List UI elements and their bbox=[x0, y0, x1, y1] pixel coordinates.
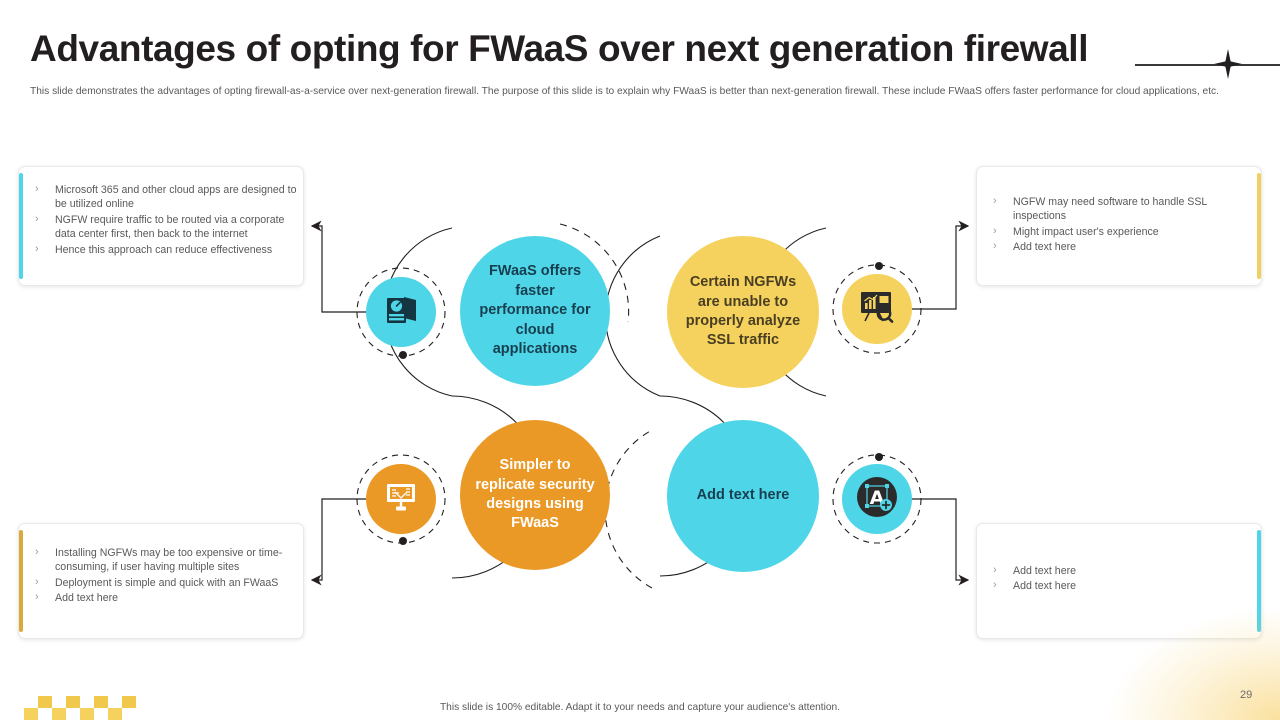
chevron-right-icon: › bbox=[35, 212, 39, 226]
list-item: ›Add text here bbox=[19, 591, 303, 605]
icon-circle-1[interactable] bbox=[366, 277, 436, 347]
chevron-right-icon: › bbox=[993, 239, 997, 253]
icon-circle-3[interactable] bbox=[366, 464, 436, 534]
add-text-box-icon: A bbox=[853, 473, 901, 526]
list-item-text: Add text here bbox=[1013, 580, 1076, 592]
chevron-right-icon: › bbox=[35, 590, 39, 604]
presentation-board-icon bbox=[382, 478, 420, 521]
callout-bottom-left[interactable]: ›Installing NGFWs may be too expensive o… bbox=[18, 523, 304, 639]
chevron-right-icon: › bbox=[993, 194, 997, 208]
list-item: ›NGFW may need software to handle SSL in… bbox=[977, 195, 1261, 224]
chevron-right-icon: › bbox=[993, 563, 997, 577]
callout-top-right[interactable]: ›NGFW may need software to handle SSL in… bbox=[976, 166, 1262, 286]
bubble-4-label: Add text here bbox=[685, 486, 802, 505]
chevron-right-icon: › bbox=[993, 224, 997, 238]
list-item-text: NGFW may need software to handle SSL ins… bbox=[1013, 196, 1207, 222]
icon-circle-4[interactable]: A bbox=[842, 464, 912, 534]
report-gauge-icon bbox=[382, 291, 420, 334]
callout-bottom-left-list: ›Installing NGFWs may be too expensive o… bbox=[19, 546, 303, 607]
icon-circle-2[interactable] bbox=[842, 274, 912, 344]
list-item-text: NGFW require traffic to be routed via a … bbox=[55, 214, 284, 240]
list-item-text: Might impact user's experience bbox=[1013, 226, 1159, 238]
list-item-text: Add text here bbox=[1013, 565, 1076, 577]
list-item: ›Deployment is simple and quick with an … bbox=[19, 576, 303, 590]
callout-top-left[interactable]: ›Microsoft 365 and other cloud apps are … bbox=[18, 166, 304, 286]
bubble-4[interactable]: Add text here bbox=[667, 420, 819, 572]
list-item: ›Might impact user's experience bbox=[977, 225, 1261, 239]
chevron-right-icon: › bbox=[35, 575, 39, 589]
list-item: ›Add text here bbox=[977, 240, 1261, 254]
chart-board-search-icon bbox=[857, 287, 897, 332]
callout-top-left-list: ›Microsoft 365 and other cloud apps are … bbox=[19, 183, 303, 258]
list-item: ›Add text here bbox=[977, 579, 1261, 593]
list-item: ›Hence this approach can reduce effectiv… bbox=[19, 243, 303, 257]
list-item-text: Add text here bbox=[55, 592, 118, 604]
bubble-2-label: Certain NGFWs are unable to properly ana… bbox=[667, 273, 819, 351]
chevron-right-icon: › bbox=[993, 578, 997, 592]
chevron-right-icon: › bbox=[35, 545, 39, 559]
page-subtitle: This slide demonstrates the advantages o… bbox=[30, 85, 1225, 99]
chevron-right-icon: › bbox=[35, 242, 39, 256]
callout-top-right-list: ›NGFW may need software to handle SSL in… bbox=[977, 195, 1261, 256]
list-item: ›Add text here bbox=[977, 564, 1261, 578]
slide-root: Advantages of opting for FWaaS over next… bbox=[0, 0, 1280, 720]
list-item: ›NGFW require traffic to be routed via a… bbox=[19, 213, 303, 242]
list-item-text: Installing NGFWs may be too expensive or… bbox=[55, 547, 282, 573]
callout-bottom-right-list: ›Add text here ›Add text here bbox=[977, 564, 1261, 595]
sparkle-icon bbox=[1214, 49, 1242, 79]
list-item: ›Installing NGFWs may be too expensive o… bbox=[19, 546, 303, 575]
bubble-3[interactable]: Simpler to replicate security designs us… bbox=[460, 420, 610, 570]
list-item-text: Add text here bbox=[1013, 241, 1076, 253]
bubble-1[interactable]: FWaaS offers faster performance for clou… bbox=[460, 236, 610, 386]
list-item: ›Microsoft 365 and other cloud apps are … bbox=[19, 183, 303, 212]
page-title: Advantages of opting for FWaaS over next… bbox=[30, 28, 1088, 70]
bubble-2[interactable]: Certain NGFWs are unable to properly ana… bbox=[667, 236, 819, 388]
page-number: 29 bbox=[1240, 689, 1252, 701]
title-rule bbox=[1135, 64, 1280, 66]
footer-note: This slide is 100% editable. Adapt it to… bbox=[0, 702, 1280, 713]
bubble-1-label: FWaaS offers faster performance for clou… bbox=[460, 262, 610, 359]
list-item-text: Deployment is simple and quick with an F… bbox=[55, 577, 278, 589]
chevron-right-icon: › bbox=[35, 182, 39, 196]
bubble-3-label: Simpler to replicate security designs us… bbox=[460, 456, 610, 534]
list-item-text: Microsoft 365 and other cloud apps are d… bbox=[55, 184, 296, 210]
list-item-text: Hence this approach can reduce effective… bbox=[55, 244, 272, 256]
